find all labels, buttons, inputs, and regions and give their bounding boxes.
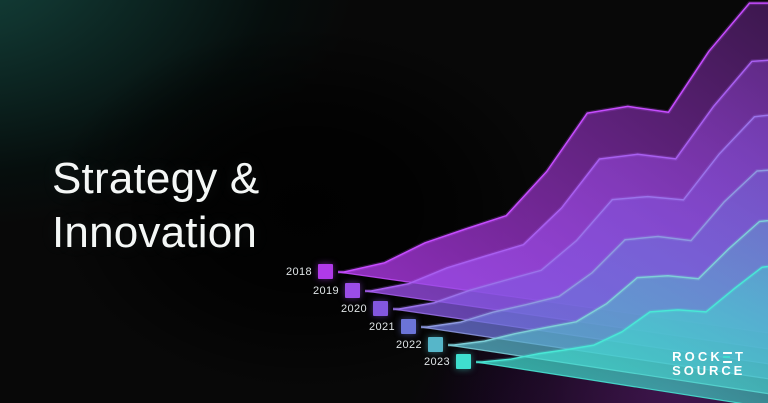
rocket-source-logo: ROCK T SOURCE xyxy=(672,350,746,379)
legend-swatch-2019 xyxy=(345,283,360,298)
hero-banner: Strategy & Innovation 201820192020202120… xyxy=(0,0,768,403)
logo-line-rocket: ROCK T xyxy=(672,350,746,365)
legend-swatch-2023 xyxy=(456,354,471,369)
legend-swatch-2020 xyxy=(373,301,388,316)
legend-item-2021[interactable]: 2021 xyxy=(369,319,416,334)
legend-label: 2022 xyxy=(396,339,422,351)
page-title: Strategy & Innovation xyxy=(52,152,259,259)
legend-label: 2023 xyxy=(424,356,450,368)
legend-item-2019[interactable]: 2019 xyxy=(313,283,360,298)
legend-label: 2019 xyxy=(313,285,339,297)
legend-item-2022[interactable]: 2022 xyxy=(396,337,443,352)
legend-swatch-2022 xyxy=(428,337,443,352)
legend-item-2018[interactable]: 2018 xyxy=(286,264,333,279)
logo-text-rock: ROCK xyxy=(672,350,723,365)
logo-line-source: SOURCE xyxy=(672,364,745,379)
legend-item-2023[interactable]: 2023 xyxy=(424,354,471,369)
legend-swatch-2018 xyxy=(318,264,333,279)
legend-label: 2021 xyxy=(369,321,395,333)
legend-swatch-2021 xyxy=(401,319,416,334)
legend-label: 2020 xyxy=(341,303,367,315)
legend-item-2020[interactable]: 2020 xyxy=(341,301,388,316)
logo-stylized-e-icon xyxy=(723,352,732,363)
legend-label: 2018 xyxy=(286,266,312,278)
logo-text-t: T xyxy=(735,350,746,365)
